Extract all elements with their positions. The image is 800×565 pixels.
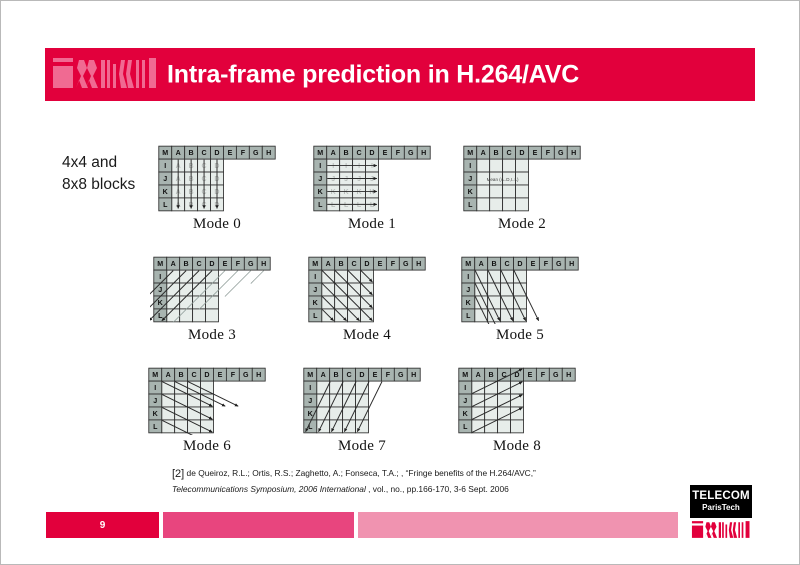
svg-text:B: B xyxy=(494,149,499,157)
svg-text:J: J xyxy=(468,175,472,183)
svg-text:K: K xyxy=(344,188,350,196)
svg-text:I: I xyxy=(469,162,471,170)
svg-text:D: D xyxy=(204,371,209,379)
mode-0-grid: ABCDABCDABCDABCDMABCDEFGHIJKL xyxy=(155,144,279,213)
svg-text:J: J xyxy=(466,286,470,294)
svg-text:L: L xyxy=(468,201,473,209)
mode-6-figure: MABCDEFGHIJKLMode 6 xyxy=(145,366,269,455)
svg-text:I: I xyxy=(309,384,311,392)
svg-text:H: H xyxy=(411,371,416,379)
svg-text:F: F xyxy=(544,260,549,268)
citation-line-1: [2] de Queiroz, R.L.; Ortis, R.S.; Zaghe… xyxy=(172,466,642,483)
svg-text:G: G xyxy=(403,260,409,268)
svg-text:M: M xyxy=(157,260,163,268)
svg-text:Mean (A..D,I..L): Mean (A..D,I..L) xyxy=(487,177,519,182)
svg-text:E: E xyxy=(218,371,223,379)
svg-text:J: J xyxy=(463,397,467,405)
svg-text:D: D xyxy=(214,149,219,157)
svg-text:B: B xyxy=(184,260,189,268)
svg-text:A: A xyxy=(476,371,481,379)
svg-text:C: C xyxy=(191,371,196,379)
mode-5-grid: MABCDEFGHIJKL xyxy=(458,255,582,324)
mode-6-grid: MABCDEFGHIJKL xyxy=(145,366,269,435)
svg-text:B: B xyxy=(489,371,494,379)
svg-text:C: C xyxy=(351,260,356,268)
svg-text:E: E xyxy=(383,149,388,157)
svg-text:F: F xyxy=(386,371,391,379)
svg-text:J: J xyxy=(357,175,361,183)
svg-text:K: K xyxy=(463,410,469,418)
svg-text:I: I xyxy=(371,162,373,170)
mode-5-caption: Mode 5 xyxy=(458,327,582,344)
svg-text:M: M xyxy=(317,149,323,157)
svg-text:L: L xyxy=(463,423,468,431)
citation-details: , vol., no., pp.166-170, 3-6 Sept. 2006 xyxy=(366,484,509,494)
svg-text:G: G xyxy=(558,149,564,157)
svg-text:G: G xyxy=(248,260,254,268)
svg-text:J: J xyxy=(370,175,374,183)
footer-bar-tertiary xyxy=(358,512,678,538)
citation-source: Telecommunications Symposium, 2006 Inter… xyxy=(172,484,366,494)
svg-text:L: L xyxy=(318,201,323,209)
svg-text:G: G xyxy=(556,260,562,268)
svg-text:I: I xyxy=(314,273,316,281)
mode-1-caption: Mode 1 xyxy=(310,216,434,233)
svg-text:K: K xyxy=(468,188,474,196)
mode-3-caption: Mode 3 xyxy=(150,327,274,344)
svg-text:H: H xyxy=(566,371,571,379)
svg-text:I: I xyxy=(345,162,347,170)
mode-7-figure: MABCDEFGHIJKLMode 7 xyxy=(300,366,424,455)
svg-text:F: F xyxy=(236,260,241,268)
svg-text:J: J xyxy=(158,286,162,294)
citation: [2] de Queiroz, R.L.; Ortis, R.S.; Zaghe… xyxy=(172,466,642,496)
footer-bar-secondary xyxy=(163,512,354,538)
svg-text:L: L xyxy=(466,312,471,320)
svg-text:C: C xyxy=(201,149,206,157)
mode-8-grid: MABCDEFGHIJKL xyxy=(455,366,579,435)
svg-text:L: L xyxy=(357,201,362,209)
mode-7-caption: Mode 7 xyxy=(300,438,424,455)
svg-text:H: H xyxy=(421,149,426,157)
svg-text:I: I xyxy=(332,162,334,170)
svg-text:K: K xyxy=(158,299,164,307)
svg-text:J: J xyxy=(163,175,167,183)
svg-text:J: J xyxy=(331,175,335,183)
mode-3-figure: MABCDEFGHIJKLMode 3 xyxy=(150,255,274,344)
svg-text:A: A xyxy=(326,260,331,268)
svg-text:C: C xyxy=(506,149,511,157)
mode-2-grid: MABCDEFGHIJKLMean (A..D,I..L) xyxy=(460,144,584,213)
svg-text:F: F xyxy=(241,149,246,157)
mode-4-grid: MABCDEFGHIJKL xyxy=(305,255,429,324)
mode-5-figure: MABCDEFGHIJKLMode 5 xyxy=(458,255,582,344)
svg-text:L: L xyxy=(158,312,163,320)
svg-text:F: F xyxy=(396,149,401,157)
svg-text:E: E xyxy=(533,149,538,157)
svg-text:I: I xyxy=(358,162,360,170)
svg-text:M: M xyxy=(467,149,473,157)
svg-text:I: I xyxy=(159,273,161,281)
footer-logo-main-text: TELECOM xyxy=(692,491,750,503)
svg-text:K: K xyxy=(153,410,159,418)
svg-text:L: L xyxy=(163,201,168,209)
svg-text:G: G xyxy=(408,149,414,157)
svg-text:A: A xyxy=(331,149,336,157)
svg-text:J: J xyxy=(308,397,312,405)
svg-text:J: J xyxy=(318,175,322,183)
svg-text:B: B xyxy=(344,149,349,157)
footer-bar-primary: 9 xyxy=(46,512,159,538)
svg-text:G: G xyxy=(553,371,559,379)
svg-text:K: K xyxy=(369,188,375,196)
svg-text:B: B xyxy=(334,371,339,379)
svg-text:H: H xyxy=(416,260,421,268)
mode-0-figure: ABCDABCDABCDABCDMABCDEFGHIJKLMode 0 xyxy=(155,144,279,233)
svg-text:M: M xyxy=(307,371,313,379)
svg-text:D: D xyxy=(519,149,524,157)
svg-text:D: D xyxy=(359,371,364,379)
prediction-mode-figures: ABCDABCDABCDABCDMABCDEFGHIJKLMode 0IIIIJ… xyxy=(0,0,800,470)
svg-text:E: E xyxy=(528,371,533,379)
mode-8-caption: Mode 8 xyxy=(455,438,579,455)
svg-text:L: L xyxy=(344,201,349,209)
svg-text:A: A xyxy=(171,260,176,268)
mode-0-caption: Mode 0 xyxy=(155,216,279,233)
svg-text:E: E xyxy=(223,260,228,268)
svg-text:L: L xyxy=(370,201,375,209)
svg-text:B: B xyxy=(179,371,184,379)
svg-text:M: M xyxy=(462,371,468,379)
svg-text:L: L xyxy=(331,201,336,209)
svg-text:H: H xyxy=(571,149,576,157)
mode-3-grid: MABCDEFGHIJKL xyxy=(150,255,274,324)
svg-text:J: J xyxy=(313,286,317,294)
telecom-paristech-footer-mark-icon xyxy=(690,520,752,539)
mode-4-caption: Mode 4 xyxy=(305,327,429,344)
svg-text:B: B xyxy=(189,149,194,157)
svg-text:I: I xyxy=(464,384,466,392)
svg-text:C: C xyxy=(346,371,351,379)
svg-text:I: I xyxy=(164,162,166,170)
svg-text:F: F xyxy=(546,149,551,157)
svg-text:D: D xyxy=(369,149,374,157)
mode-6-caption: Mode 6 xyxy=(145,438,269,455)
mode-2-figure: MABCDEFGHIJKLMean (A..D,I..L)Mode 2 xyxy=(460,144,584,233)
svg-text:K: K xyxy=(318,188,324,196)
svg-text:J: J xyxy=(153,397,157,405)
mode-8-figure: MABCDEFGHIJKLMode 8 xyxy=(455,366,579,455)
svg-text:J: J xyxy=(344,175,348,183)
svg-text:L: L xyxy=(153,423,158,431)
svg-text:I: I xyxy=(319,162,321,170)
mode-7-grid: MABCDEFGHIJKL xyxy=(300,366,424,435)
svg-text:H: H xyxy=(266,149,271,157)
svg-text:A: A xyxy=(321,371,326,379)
slide: Intra-frame prediction in H.264/AVC 4x4 … xyxy=(0,0,800,565)
footer-logo-sub-text: ParisTech xyxy=(702,504,740,512)
mode-1-grid: IIIIJJJJKKKKLLLLMABCDEFGHIJKL xyxy=(310,144,434,213)
svg-text:B: B xyxy=(492,260,497,268)
svg-text:K: K xyxy=(163,188,169,196)
svg-text:I: I xyxy=(467,273,469,281)
citation-marker: [2] xyxy=(172,468,184,480)
svg-text:H: H xyxy=(256,371,261,379)
svg-text:E: E xyxy=(228,149,233,157)
svg-text:G: G xyxy=(398,371,404,379)
footer-logo: TELECOM ParisTech xyxy=(690,485,752,539)
svg-text:A: A xyxy=(481,149,486,157)
mode-2-caption: Mode 2 xyxy=(460,216,584,233)
svg-text:C: C xyxy=(196,260,201,268)
svg-text:L: L xyxy=(313,312,318,320)
citation-authors: de Queiroz, R.L.; Ortis, R.S.; Zaghetto,… xyxy=(184,468,536,478)
svg-text:D: D xyxy=(517,260,522,268)
svg-text:I: I xyxy=(154,384,156,392)
svg-text:H: H xyxy=(261,260,266,268)
citation-line-2: Telecommunications Symposium, 2006 Inter… xyxy=(172,483,642,496)
svg-text:C: C xyxy=(504,260,509,268)
svg-text:A: A xyxy=(479,260,484,268)
svg-text:F: F xyxy=(391,260,396,268)
svg-text:E: E xyxy=(373,371,378,379)
mode-4-figure: MABCDEFGHIJKLMode 4 xyxy=(305,255,429,344)
mode-1-figure: IIIIJJJJKKKKLLLLMABCDEFGHIJKLMode 1 xyxy=(310,144,434,233)
svg-text:G: G xyxy=(243,371,249,379)
svg-text:A: A xyxy=(166,371,171,379)
svg-text:D: D xyxy=(209,260,214,268)
svg-text:A: A xyxy=(176,149,181,157)
svg-text:M: M xyxy=(465,260,471,268)
svg-text:B: B xyxy=(339,260,344,268)
svg-text:M: M xyxy=(152,371,158,379)
svg-text:M: M xyxy=(162,149,168,157)
svg-text:K: K xyxy=(331,188,337,196)
svg-text:E: E xyxy=(378,260,383,268)
svg-text:K: K xyxy=(313,299,319,307)
svg-text:F: F xyxy=(541,371,546,379)
svg-text:E: E xyxy=(531,260,536,268)
svg-text:M: M xyxy=(312,260,318,268)
footer-logo-box: TELECOM ParisTech xyxy=(690,485,752,518)
svg-text:F: F xyxy=(231,371,236,379)
svg-text:D: D xyxy=(364,260,369,268)
svg-text:C: C xyxy=(356,149,361,157)
svg-text:K: K xyxy=(466,299,472,307)
svg-text:H: H xyxy=(569,260,574,268)
svg-text:K: K xyxy=(356,188,362,196)
svg-text:G: G xyxy=(253,149,259,157)
page-number: 9 xyxy=(46,512,159,538)
